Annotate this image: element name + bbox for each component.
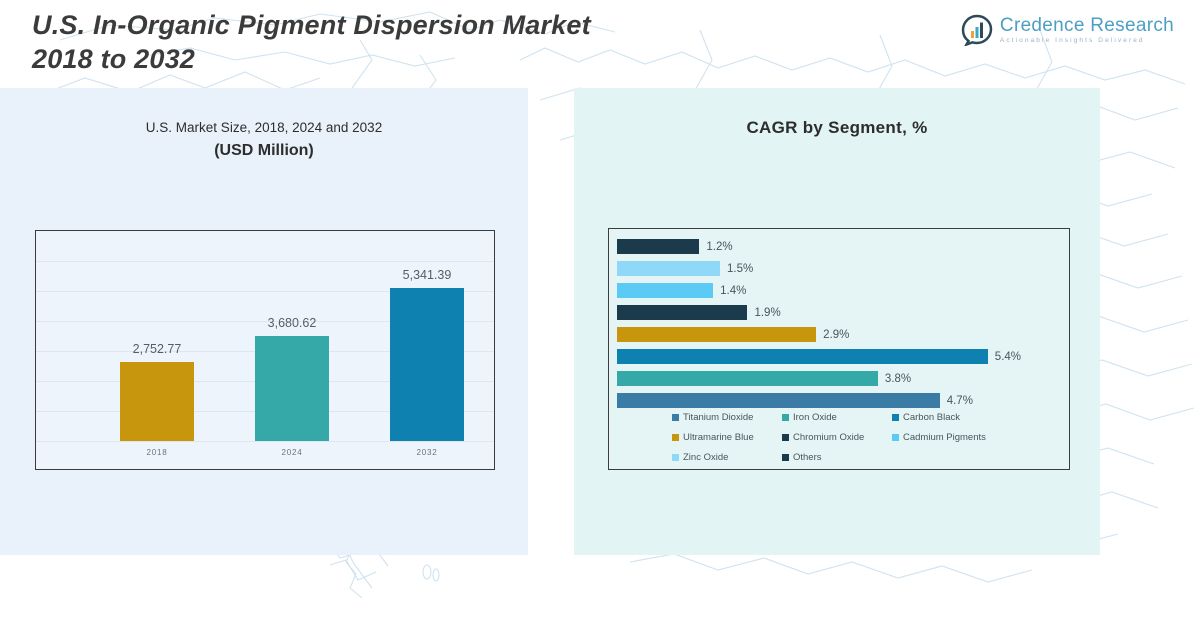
cagr-panel-title: CAGR by Segment, % bbox=[574, 118, 1100, 138]
bar-value-label: 2.9% bbox=[823, 329, 849, 341]
legend-swatch-icon bbox=[892, 434, 899, 441]
column-value-label: 3,680.62 bbox=[268, 316, 317, 330]
legend-item[interactable]: Titanium Dioxide bbox=[672, 412, 782, 423]
bar-row: 1.2% bbox=[617, 239, 733, 254]
column-bar-group: 2,752.772018 bbox=[120, 362, 194, 441]
column-bar bbox=[255, 336, 329, 442]
logo-tagline: Actionable Insights Delivered bbox=[1000, 38, 1174, 45]
market-size-subtitle-line1: U.S. Market Size, 2018, 2024 and 2032 bbox=[146, 120, 382, 135]
legend-item[interactable]: Others bbox=[782, 452, 892, 463]
bar-chart-circle-icon bbox=[961, 14, 993, 46]
logo-name: Credence Research bbox=[1000, 16, 1174, 35]
legend-item[interactable]: Iron Oxide bbox=[782, 412, 892, 423]
column-chart-plot: 2,752.7720183,680.6220245,341.392032 bbox=[36, 231, 494, 469]
bar-value-label: 1.9% bbox=[754, 307, 780, 319]
bar-row: 2.9% bbox=[617, 327, 849, 342]
cagr-legend: Titanium DioxideIron OxideCarbon BlackUl… bbox=[672, 412, 1022, 472]
legend-label: Titanium Dioxide bbox=[683, 412, 753, 423]
legend-swatch-icon bbox=[782, 454, 789, 461]
bar-row: 4.7% bbox=[617, 393, 973, 408]
legend-swatch-icon bbox=[672, 414, 679, 421]
bar-rect bbox=[617, 327, 816, 342]
column-axis-label: 2032 bbox=[417, 448, 438, 457]
bar-rect bbox=[617, 239, 699, 254]
column-value-label: 5,341.39 bbox=[403, 268, 452, 282]
bar-value-label: 1.5% bbox=[727, 263, 753, 275]
bar-rect bbox=[617, 283, 713, 298]
bar-rect bbox=[617, 261, 720, 276]
legend-swatch-icon bbox=[672, 434, 679, 441]
bar-value-label: 3.8% bbox=[885, 373, 911, 385]
column-axis-label: 2024 bbox=[282, 448, 303, 457]
legend-item[interactable]: Carbon Black bbox=[892, 412, 1002, 423]
gridline bbox=[36, 261, 494, 262]
legend-item[interactable]: Zinc Oxide bbox=[672, 452, 782, 463]
bar-row: 3.8% bbox=[617, 371, 911, 386]
bar-row: 1.4% bbox=[617, 283, 746, 298]
legend-label: Zinc Oxide bbox=[683, 452, 728, 463]
logo-text-group: Credence Research Actionable Insights De… bbox=[1000, 16, 1174, 45]
bar-value-label: 1.4% bbox=[720, 285, 746, 297]
legend-swatch-icon bbox=[892, 414, 899, 421]
legend-item[interactable]: Chromium Oxide bbox=[782, 432, 892, 443]
bar-value-label: 1.2% bbox=[706, 241, 732, 253]
brand-logo: Credence Research Actionable Insights De… bbox=[961, 14, 1174, 46]
bar-row: 1.5% bbox=[617, 261, 753, 276]
market-size-subtitle-line2: (USD Million) bbox=[0, 142, 528, 160]
bar-row: 1.9% bbox=[617, 305, 781, 320]
legend-label: Carbon Black bbox=[903, 412, 960, 423]
bar-rect bbox=[617, 349, 988, 364]
legend-label: Chromium Oxide bbox=[793, 432, 864, 443]
legend-swatch-icon bbox=[782, 414, 789, 421]
bar-value-label: 4.7% bbox=[947, 395, 973, 407]
column-value-label: 2,752.77 bbox=[133, 342, 182, 356]
market-size-chart: 2,752.7720183,680.6220245,341.392032 bbox=[35, 230, 495, 470]
gridline bbox=[36, 441, 494, 442]
legend-label: Ultramarine Blue bbox=[683, 432, 754, 443]
legend-swatch-icon bbox=[782, 434, 789, 441]
legend-swatch-icon bbox=[672, 454, 679, 461]
page-title: U.S. In-Organic Pigment Dispersion Marke… bbox=[32, 8, 591, 76]
legend-item[interactable]: Cadmium Pigments bbox=[892, 432, 1002, 443]
bar-rect bbox=[617, 305, 747, 320]
legend-label: Others bbox=[793, 452, 822, 463]
column-bar bbox=[120, 362, 194, 441]
column-bar bbox=[390, 288, 464, 441]
legend-label: Iron Oxide bbox=[793, 412, 837, 423]
column-axis-label: 2018 bbox=[147, 448, 168, 457]
header: U.S. In-Organic Pigment Dispersion Marke… bbox=[0, 0, 1202, 88]
legend-item[interactable]: Ultramarine Blue bbox=[672, 432, 782, 443]
legend-label: Cadmium Pigments bbox=[903, 432, 986, 443]
market-size-subtitle: U.S. Market Size, 2018, 2024 and 2032 (U… bbox=[0, 120, 528, 160]
column-bar-group: 3,680.622024 bbox=[255, 336, 329, 442]
column-bar-group: 5,341.392032 bbox=[390, 288, 464, 441]
bar-row: 5.4% bbox=[617, 349, 1021, 364]
bar-value-label: 5.4% bbox=[995, 351, 1021, 363]
bar-rect bbox=[617, 393, 940, 408]
bar-rect bbox=[617, 371, 878, 386]
